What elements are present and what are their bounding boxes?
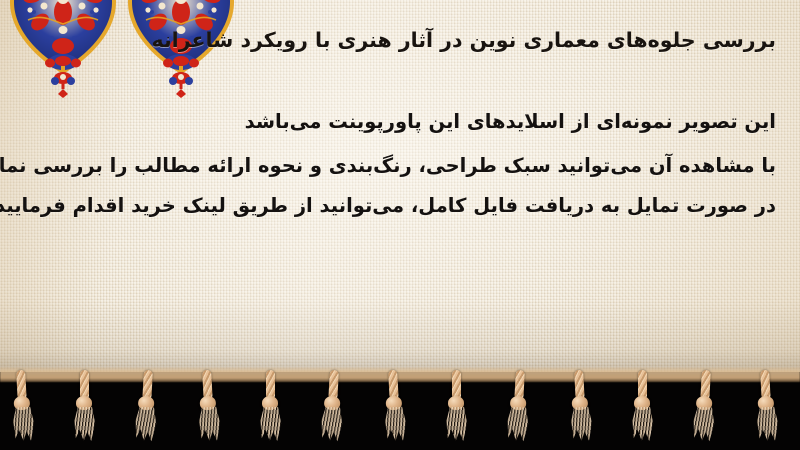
carpet-tassel <box>260 370 280 442</box>
carpet-tassel <box>196 370 220 443</box>
carpet-tassel <box>568 370 592 443</box>
carpet-tassel <box>320 370 344 443</box>
carpet-tassel <box>446 370 466 442</box>
tassel-skirt <box>632 407 654 441</box>
body-line-3: در صورت تمایل به دریافت فایل کامل، می‌تو… <box>24 196 776 216</box>
slide-body-text: این تصویر نمونه‌ای از اسلایدهای این پاور… <box>24 112 776 216</box>
persian-pendant-ornament-left <box>44 52 82 98</box>
body-line-2: با مشاهده آن می‌توانید سبک طراحی، رنگ‌بن… <box>24 156 776 176</box>
body-line-1: این تصویر نمونه‌ای از اسلایدهای این پاور… <box>24 112 776 132</box>
tassel-skirt <box>74 407 96 441</box>
tassel-skirt <box>320 406 344 441</box>
tassel-skirt <box>506 406 530 441</box>
tassel-skirt <box>384 406 408 441</box>
slide-title: بررسی جلوه‌های معماری نوین در آثار هنری … <box>216 28 776 54</box>
slide-canvas: بررسی جلوه‌های معماری نوین در آثار هنری … <box>0 0 800 450</box>
carpet-tassel <box>134 370 158 443</box>
tassel-skirt <box>260 407 282 441</box>
carpet-tassel <box>10 370 34 443</box>
tassel-skirt <box>570 406 594 441</box>
carpet-tassel <box>382 370 406 443</box>
tassel-skirt <box>692 406 716 441</box>
tassel-skirt <box>756 406 780 441</box>
carpet-tassel <box>632 370 652 442</box>
tassel-skirt <box>198 406 222 441</box>
persian-pendant-ornament-right <box>162 52 200 98</box>
tassel-skirt <box>446 407 468 441</box>
tassel-skirt <box>12 406 36 441</box>
tassel-skirt <box>134 406 158 441</box>
carpet-tassel <box>506 370 530 443</box>
carpet-tassel <box>74 370 94 442</box>
carpet-tassel <box>754 370 778 443</box>
carpet-tassel <box>692 370 716 443</box>
